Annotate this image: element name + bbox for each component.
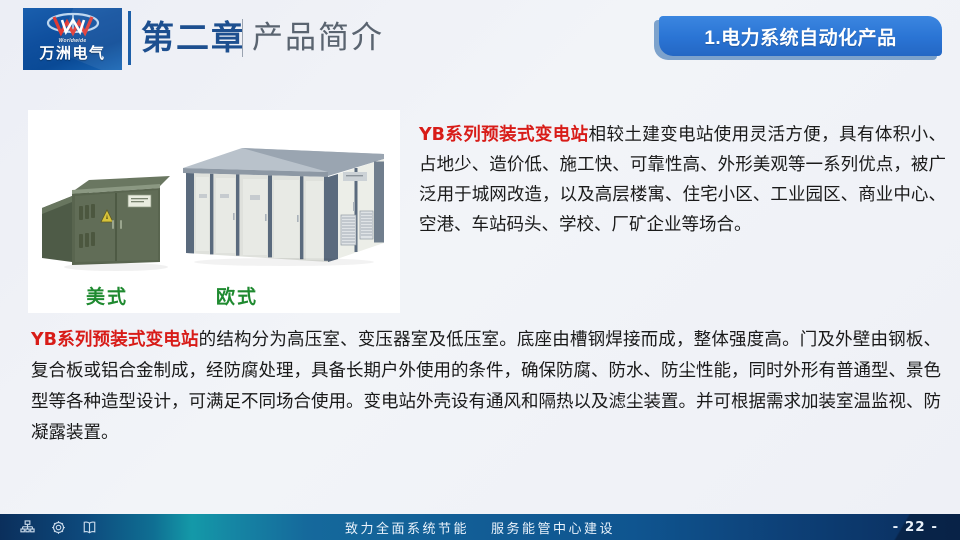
chapter-subtitle: 产品简介 xyxy=(252,16,384,60)
product-photo-panel: 美式 欧式 xyxy=(28,110,400,313)
logo-brand-en: Worldwide xyxy=(59,38,87,44)
slide-header: Worldwide 万洲电气 第二章 产品简介 1.电力系统自动化产品 xyxy=(0,0,960,85)
american-style-substation xyxy=(42,176,170,271)
logo-brand-cn: 万洲电气 xyxy=(39,46,105,61)
paragraph-right: YB系列预装式变电站相较土建变电站使用灵活方便，具有体积小、占地少、造价低、施工… xyxy=(419,120,946,240)
slide-footer: 致力全面系统节能 服务能管中心建设 - 22 - xyxy=(0,514,960,540)
header-accent-bar xyxy=(128,11,131,65)
chapter-divider xyxy=(242,19,243,57)
paragraph-bottom-keyword: YB系列预装式变电站 xyxy=(31,330,199,350)
company-logo: Worldwide 万洲电气 xyxy=(23,8,122,70)
section-badge-label: 1.电力系统自动化产品 xyxy=(704,23,896,50)
logo-emblem-icon xyxy=(44,12,102,38)
paragraph-right-keyword: YB系列预装式变电站 xyxy=(419,125,589,145)
section-badge-body: 1.电力系统自动化产品 xyxy=(659,16,942,56)
footer-slogan: 致力全面系统节能 服务能管中心建设 xyxy=(0,514,960,540)
footer-slogan-right: 服务能管中心建设 xyxy=(491,518,615,537)
footer-slogan-left: 致力全面系统节能 xyxy=(345,518,469,537)
paragraph-bottom: YB系列预装式变电站的结构分为高压室、变压器室及低压室。底座由槽钢焊接而成，整体… xyxy=(31,325,941,449)
photo-caption-european: 欧式 xyxy=(216,282,258,309)
chapter-title: 第二章 xyxy=(141,16,246,60)
page-number: - 22 - xyxy=(893,514,938,540)
substation-illustrations xyxy=(28,110,400,313)
section-badge: 1.电力系统自动化产品 xyxy=(659,16,942,56)
photo-caption-american: 美式 xyxy=(86,282,128,309)
slide-canvas: Worldwide 万洲电气 第二章 产品简介 1.电力系统自动化产品 xyxy=(0,0,960,540)
european-style-substation xyxy=(183,148,384,266)
